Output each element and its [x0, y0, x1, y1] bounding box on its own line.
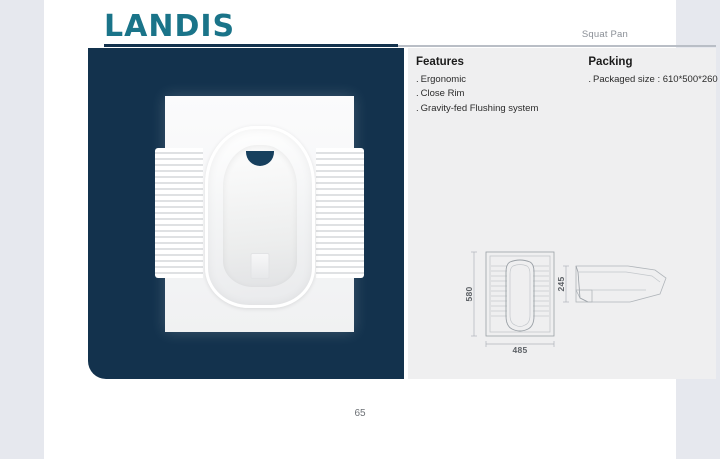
- brand-logo: LANDIS: [104, 12, 235, 42]
- product-hero-panel: [88, 48, 404, 379]
- features-column: Features .Ergonomic .Close Rim .Gravity-…: [416, 56, 538, 116]
- drain-ribs-left-icon: [155, 148, 203, 278]
- specification-panel: Features .Ergonomic .Close Rim .Gravity-…: [408, 48, 716, 379]
- packing-item-label: Packaged size : 610*500*260: [593, 74, 718, 85]
- drain-ribs-right-icon: [316, 148, 364, 278]
- top-view-drawing: [486, 252, 554, 336]
- product-kicker: Squat Pan: [582, 29, 628, 40]
- header-rule-light: [398, 45, 716, 47]
- features-list-item: .Close Rim: [416, 87, 538, 101]
- packing-column: Packing .Packaged size : 610*500*260: [588, 56, 717, 116]
- squat-pan-bowl: [205, 126, 315, 308]
- page-number: 65: [44, 408, 676, 419]
- bullet-dot: .: [416, 103, 419, 114]
- features-item-label: Ergonomic: [421, 74, 466, 85]
- features-item-label: Close Rim: [421, 88, 465, 99]
- spec-columns: Features .Ergonomic .Close Rim .Gravity-…: [416, 56, 708, 116]
- product-photo: [165, 96, 354, 332]
- packing-list-item: .Packaged size : 610*500*260: [588, 73, 717, 87]
- features-heading: Features: [416, 56, 538, 68]
- bullet-dot: .: [588, 74, 591, 85]
- features-list-item: .Ergonomic: [416, 73, 538, 87]
- flush-hole-icon: [246, 151, 274, 166]
- features-list-item: .Gravity-fed Flushing system: [416, 102, 538, 116]
- side-view-height-dimension: 245: [556, 276, 566, 291]
- features-item-label: Gravity-fed Flushing system: [421, 103, 539, 114]
- header-rule-dark: [104, 44, 398, 47]
- technical-drawings: 580 485 2: [460, 246, 700, 356]
- catalog-page: LANDIS Squat Pan Features: [44, 0, 676, 459]
- squat-pan-inner-basin: [223, 145, 297, 287]
- drain-outlet-icon: [250, 253, 269, 279]
- bullet-dot: .: [416, 88, 419, 99]
- packing-heading: Packing: [588, 56, 717, 68]
- top-view-width-dimension: 485: [512, 345, 527, 355]
- bullet-dot: .: [416, 74, 419, 85]
- document-viewer[interactable]: LANDIS Squat Pan Features: [0, 0, 720, 459]
- side-view-drawing: [576, 266, 666, 302]
- dimension-drawings-svg: 580 485 2: [460, 246, 700, 356]
- top-view-height-dimension: 580: [464, 286, 474, 301]
